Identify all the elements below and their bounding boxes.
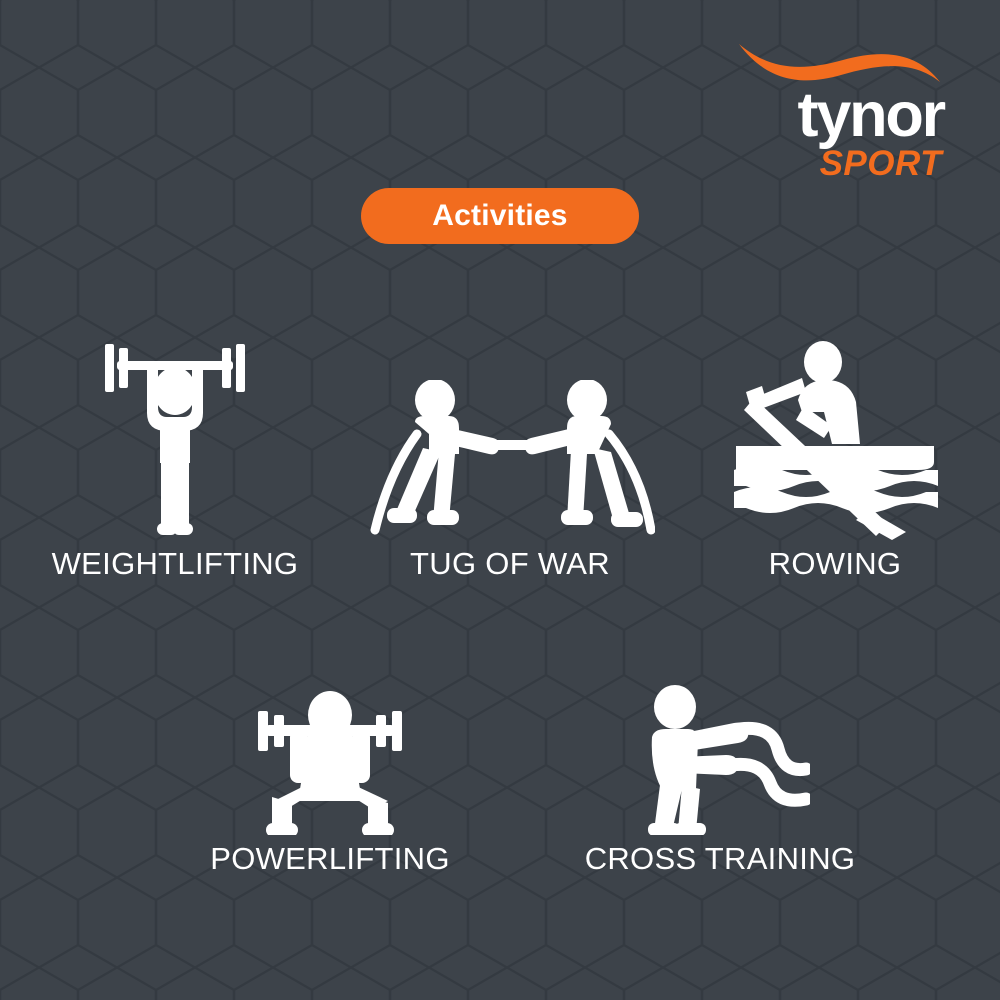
weightlifting-icon-box bbox=[95, 330, 255, 540]
activity-label: WEIGHTLIFTING bbox=[52, 546, 299, 582]
brand-sub-wordmark: SPORT bbox=[820, 146, 942, 181]
brand-logo: tynor SPORT bbox=[722, 38, 942, 188]
activity-item-weightlifting: WEIGHTLIFTING bbox=[0, 330, 350, 582]
activity-label: POWERLIFTING bbox=[210, 841, 450, 877]
activity-row-1: WEIGHTLIFTING bbox=[0, 330, 1000, 582]
tug-of-war-icon bbox=[365, 380, 655, 540]
weightlifting-icon bbox=[95, 335, 255, 540]
brand-wordmark: tynor bbox=[797, 84, 944, 147]
activity-row-2: POWERLIFTING bbox=[0, 685, 1000, 877]
cross-training-icon bbox=[630, 685, 810, 835]
activity-label: CROSS TRAINING bbox=[585, 841, 856, 877]
powerlifting-icon bbox=[250, 685, 410, 835]
tug-of-war-icon-box bbox=[365, 330, 655, 540]
activity-item-rowing: ROWING bbox=[670, 330, 1000, 582]
cross-training-icon-box bbox=[630, 685, 810, 835]
activities-badge-label: Activities bbox=[432, 199, 567, 233]
activity-item-tug-of-war: TUG OF WAR bbox=[350, 330, 670, 582]
rowing-icon bbox=[728, 340, 943, 540]
activities-poster: tynor SPORT Activities bbox=[0, 0, 1000, 1000]
activity-label: TUG OF WAR bbox=[410, 546, 610, 582]
activities-badge: Activities bbox=[361, 188, 639, 244]
activity-item-cross-training: CROSS TRAINING bbox=[545, 685, 895, 877]
rowing-icon-box bbox=[728, 330, 943, 540]
activity-item-powerlifting: POWERLIFTING bbox=[115, 685, 545, 877]
activity-label: ROWING bbox=[769, 546, 902, 582]
powerlifting-icon-box bbox=[250, 685, 410, 835]
